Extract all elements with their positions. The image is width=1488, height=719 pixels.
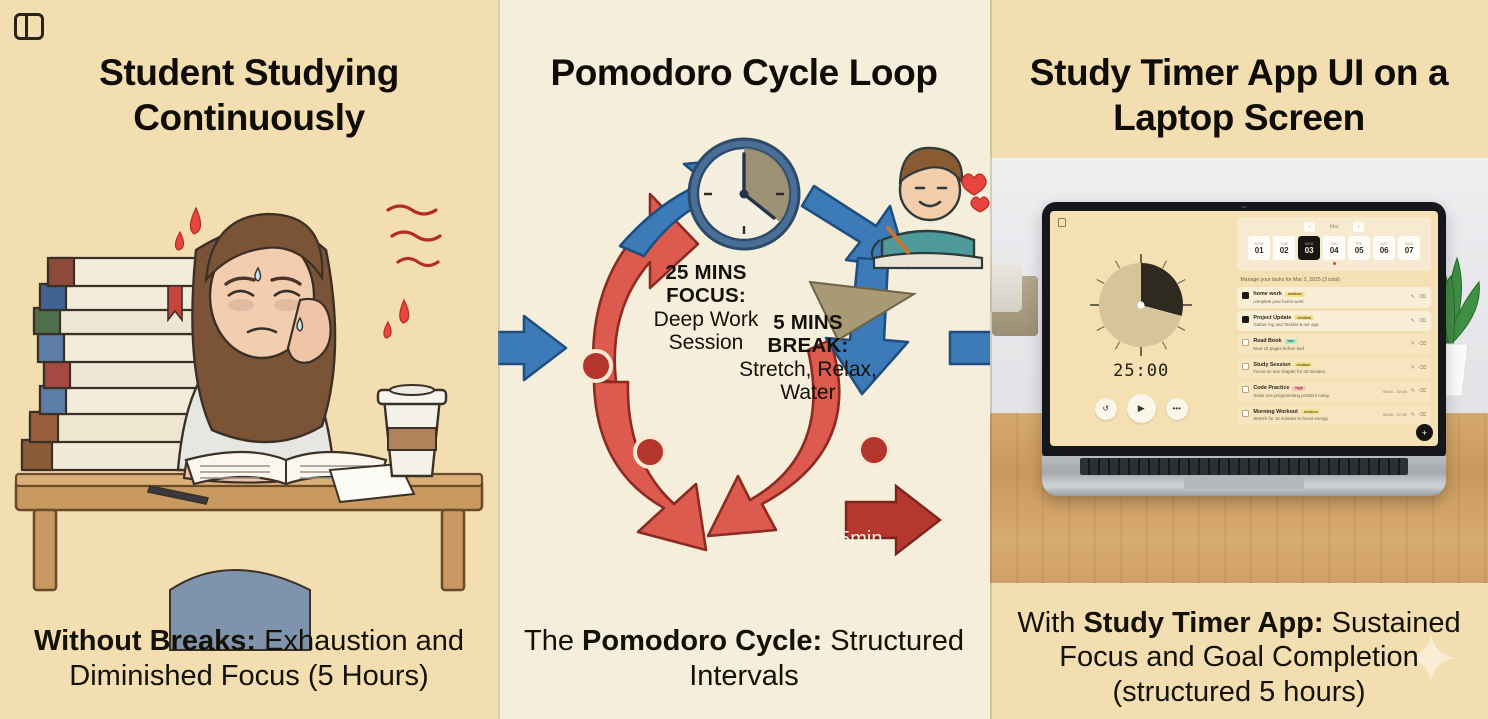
panel-right: Study Timer App UI on a Laptop Screen <box>990 0 1488 719</box>
label-focus-header: 25 MINS FOCUS: <box>626 262 786 308</box>
laptop-photo: 25:00 ↺ ▶ ••• ‹ Mar <box>990 158 1488 583</box>
calendar-day[interactable]: SAT 06 <box>1373 236 1395 260</box>
calendar-day[interactable]: TUE 02 <box>1273 236 1295 260</box>
task-checkbox[interactable] <box>1242 316 1249 323</box>
edit-icon[interactable]: ✎ <box>1411 318 1415 324</box>
calendar-days: MON 01 TUE 02 WED 03 <box>1241 236 1427 260</box>
timer-display: 25:00 <box>1050 361 1232 381</box>
delete-icon[interactable]: ⌫ <box>1419 341 1426 347</box>
task-desc: Solve one programming problem today. <box>1253 393 1379 398</box>
timer-dial-icon[interactable] <box>1099 263 1183 347</box>
edit-icon[interactable]: ✎ <box>1411 341 1415 347</box>
delete-icon[interactable]: ⌫ <box>1419 318 1426 324</box>
task-row[interactable]: Study Sessionmedium Focus on one chapter… <box>1237 358 1431 379</box>
day-number: 06 <box>1380 246 1389 255</box>
task-row[interactable]: Code Practicehigh Solve one programming … <box>1237 381 1431 402</box>
label-break-sub: Stretch, Relax, Water <box>738 358 878 405</box>
task-checkbox[interactable] <box>1242 410 1249 417</box>
priority-badge: medium <box>1294 362 1314 367</box>
prev-month-button[interactable]: ‹ <box>1304 222 1315 232</box>
task-title: Read Book <box>1253 338 1281 344</box>
divider-left <box>498 0 500 719</box>
panel-left: Student Studying Continuously <box>0 0 498 719</box>
today-dot <box>1333 262 1336 265</box>
task-row[interactable]: Read Booklow Next 15 pages before bed. ✎… <box>1237 334 1431 355</box>
priority-badge: low <box>1285 339 1297 344</box>
task-desc: Next 15 pages before bed. <box>1253 346 1406 351</box>
blue-arrow-out <box>950 316 990 380</box>
add-task-button[interactable]: + <box>1416 424 1433 441</box>
month-label: Mar <box>1325 222 1343 232</box>
caption-right-bold: Study Timer App: <box>1083 607 1323 639</box>
play-button[interactable]: ▶ <box>1127 394 1156 423</box>
day-number: 03 <box>1305 246 1314 255</box>
day-number: 07 <box>1405 246 1414 255</box>
more-options-button[interactable]: ••• <box>1166 398 1188 420</box>
task-desc: Focus on one chapter for 40 minutes. <box>1253 369 1406 374</box>
task-desc: Gather mg and Tasklist & our app. <box>1253 322 1406 327</box>
laptop: 25:00 ↺ ▶ ••• ‹ Mar <box>1042 202 1446 496</box>
divider-right <box>990 0 992 719</box>
timer-controls: ↺ ▶ ••• <box>1050 394 1232 423</box>
day-number: 05 <box>1355 246 1364 255</box>
trackpad <box>1184 476 1304 489</box>
reset-button[interactable]: ↺ <box>1095 398 1117 420</box>
task-row[interactable]: home workmedium complete your home work … <box>1237 287 1431 308</box>
calendar-day[interactable]: THU 04 <box>1323 236 1345 260</box>
task-time: 06:40 - 07:00 <box>1383 412 1407 417</box>
task-title: Project Update <box>1253 315 1291 321</box>
task-row[interactable]: Project Updatemedium Gather mg and Taskl… <box>1237 311 1431 332</box>
label-break: 5 MINS BREAK: Stretch, Relax, Water <box>738 312 878 405</box>
priority-badge: medium <box>1294 315 1314 320</box>
wall-clock-icon <box>689 139 799 249</box>
label-break-header: 5 MINS BREAK: <box>738 312 878 358</box>
label-long-break: 15min <box>828 528 882 551</box>
caption-middle-bold: Pomodoro Cycle: <box>582 625 822 657</box>
document-icon[interactable] <box>1058 218 1066 227</box>
edit-icon[interactable]: ✎ <box>1411 365 1415 371</box>
delete-icon[interactable]: ⌫ <box>1419 388 1426 394</box>
caption-middle-pre: The <box>524 625 582 657</box>
task-title: Study Session <box>1253 362 1290 368</box>
timer-pane: 25:00 ↺ ▶ ••• <box>1050 211 1232 446</box>
infographic-canvas: Student Studying Continuously <box>0 0 1488 719</box>
caption-right: With Study Timer App: Sustained Focus an… <box>990 606 1488 710</box>
task-title: home work <box>1253 291 1281 297</box>
keyboard <box>1080 458 1408 475</box>
delete-icon[interactable]: ⌫ <box>1419 412 1426 418</box>
task-time: 06:10 - 10:00 <box>1383 389 1407 394</box>
caption-left: Without Breaks: Exhaustion and Diminishe… <box>0 624 498 693</box>
priority-badge: high <box>1292 386 1306 391</box>
caption-left-bold: Without Breaks: <box>34 625 256 657</box>
delete-icon[interactable]: ⌫ <box>1419 294 1426 300</box>
tasks-header: Manage your tasks for Mar 3, 2025 (3 tot… <box>1240 277 1431 283</box>
app-screen: 25:00 ↺ ▶ ••• ‹ Mar <box>1050 211 1438 446</box>
task-title: Morning Workout <box>1253 409 1298 415</box>
white-cup <box>990 264 1022 312</box>
calendar-strip: ‹ Mar › MON 01 <box>1237 217 1431 271</box>
next-month-button[interactable]: › <box>1353 222 1364 232</box>
edit-icon[interactable]: ✎ <box>1411 412 1415 418</box>
laptop-lid: 25:00 ↺ ▶ ••• ‹ Mar <box>1042 202 1446 457</box>
calendar-day-selected[interactable]: WED 03 <box>1298 236 1320 260</box>
task-checkbox[interactable] <box>1242 292 1249 299</box>
calendar-nav: ‹ Mar › <box>1241 222 1427 232</box>
delete-icon[interactable]: ⌫ <box>1419 365 1426 371</box>
blue-arrow-in <box>498 316 566 380</box>
task-title: Code Practice <box>1253 385 1289 391</box>
calendar-day[interactable]: MON 01 <box>1248 236 1270 260</box>
task-row[interactable]: Morning Workoutmedium Stretch for 15 min… <box>1237 405 1431 426</box>
caption-right-pre: With <box>1017 607 1083 639</box>
task-checkbox[interactable] <box>1242 386 1249 393</box>
tasks-pane: ‹ Mar › MON 01 <box>1232 211 1438 446</box>
laptop-base <box>1042 456 1446 496</box>
day-number: 02 <box>1280 246 1289 255</box>
task-checkbox[interactable] <box>1242 339 1249 346</box>
calendar-day[interactable]: SUN 07 <box>1398 236 1420 260</box>
panel-middle: Pomodoro Cycle Loop <box>498 0 990 719</box>
task-desc: Stretch for 15 minutes to boost energy. <box>1253 416 1379 421</box>
priority-badge: medium <box>1285 292 1305 297</box>
edit-icon[interactable]: ✎ <box>1411 388 1415 394</box>
page-title-right: Study Timer App UI on a Laptop Screen <box>990 50 1488 140</box>
task-checkbox[interactable] <box>1242 363 1249 370</box>
day-number: 01 <box>1255 246 1264 255</box>
tired-student-illustration <box>0 0 498 719</box>
day-number: 04 <box>1330 246 1339 255</box>
edit-icon[interactable]: ✎ <box>1411 294 1415 300</box>
task-desc: complete your home work <box>1253 299 1406 304</box>
caption-middle: The Pomodoro Cycle: Structured Intervals <box>498 624 990 693</box>
dial-ticks <box>1088 252 1194 358</box>
calendar-day[interactable]: FRI 05 <box>1348 236 1370 260</box>
priority-badge: medium <box>1301 409 1321 414</box>
